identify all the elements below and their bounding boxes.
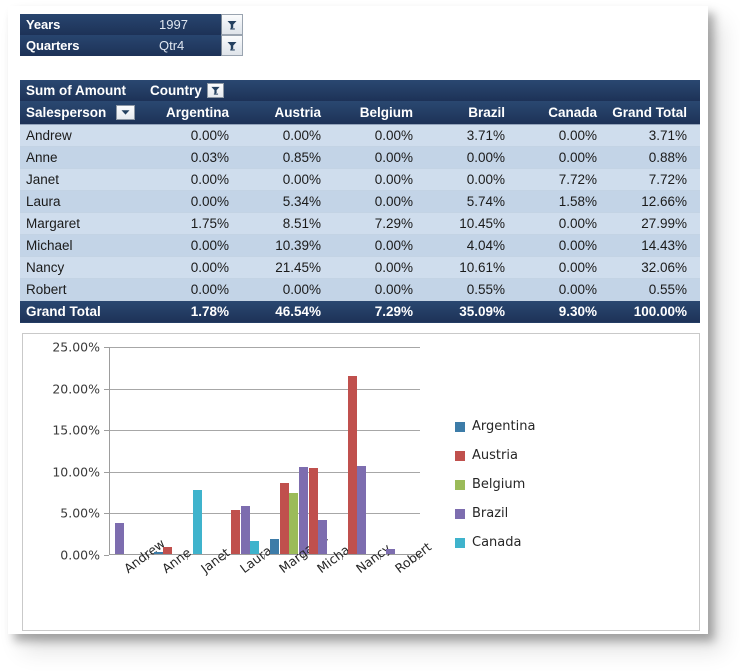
chart-panel[interactable]: 0.00%5.00%10.00%15.00%20.00%25.00%Andrew… (22, 333, 700, 631)
y-axis-tick (104, 472, 109, 473)
legend-label: Canada (472, 535, 521, 550)
chart-plot-area: 0.00%5.00%10.00%15.00%20.00%25.00%Andrew… (109, 347, 419, 555)
table-cell: 0.00% (334, 168, 426, 190)
table-cell: 0.00% (334, 124, 426, 146)
pivot-table: Sum of AmountCountrySalespersonArgentina… (20, 80, 700, 323)
row-label: Margaret (20, 212, 150, 234)
legend-item[interactable]: Austria (455, 441, 575, 470)
page-field-label: Years (20, 14, 157, 35)
table-cell: 3.71% (610, 124, 700, 146)
column-header-belgium[interactable]: Belgium (334, 101, 426, 124)
table-cell: 3.71% (426, 124, 518, 146)
bar-margaret-argentina[interactable] (270, 539, 279, 554)
bar-robert-brazil[interactable] (386, 549, 395, 554)
legend-label: Austria (472, 448, 518, 463)
gridline (110, 513, 420, 514)
table-row: Janet0.00%0.00%0.00%0.00%7.72%7.72% (20, 168, 700, 190)
y-axis-tick-label: 20.00% (52, 381, 100, 396)
page-field-row: Years1997 (20, 14, 245, 35)
grand-total-cell: 7.29% (334, 300, 426, 323)
table-cell: 4.04% (426, 234, 518, 256)
table-cell: 32.06% (610, 256, 700, 278)
pivot-header-row-top: Sum of AmountCountry (20, 80, 700, 101)
column-field-label: Country (150, 83, 202, 98)
page-field-value: Qtr4 (157, 35, 221, 56)
bar-margaret-belgium[interactable] (289, 493, 298, 554)
table-cell: 0.00% (334, 146, 426, 168)
y-axis-tick (104, 555, 109, 556)
y-axis-tick (104, 347, 109, 348)
legend-swatch-canada (455, 538, 465, 548)
row-label: Nancy (20, 256, 150, 278)
table-cell: 0.00% (518, 278, 610, 300)
grand-total-cell: 9.30% (518, 300, 610, 323)
table-cell: 5.34% (242, 190, 334, 212)
pivot-report-screenshot: Years1997QuartersQtr4 Sum of AmountCount… (0, 0, 740, 671)
table-cell: 5.74% (426, 190, 518, 212)
y-axis-tick-label: 0.00% (60, 548, 100, 563)
page-field-row: QuartersQtr4 (20, 35, 245, 56)
chevron-down-icon[interactable] (116, 105, 135, 120)
table-cell: 0.55% (610, 278, 700, 300)
row-label: Michael (20, 234, 150, 256)
table-cell: 0.00% (518, 124, 610, 146)
row-field-header: Salesperson (20, 101, 150, 124)
row-label: Andrew (20, 124, 150, 146)
y-axis-line (109, 347, 110, 555)
table-cell: 1.58% (518, 190, 610, 212)
legend-swatch-austria (455, 451, 465, 461)
legend-swatch-brazil (455, 509, 465, 519)
table-cell: 0.00% (150, 278, 242, 300)
grand-total-label: Grand Total (20, 300, 150, 323)
table-cell: 0.00% (426, 168, 518, 190)
value-field-label: Sum of Amount (20, 80, 150, 101)
legend-item[interactable]: Argentina (455, 412, 575, 441)
y-axis-tick-label: 5.00% (60, 506, 100, 521)
bar-nancy-brazil[interactable] (357, 466, 366, 554)
table-cell: 10.39% (242, 234, 334, 256)
table-cell: 0.00% (334, 256, 426, 278)
gridline (110, 347, 420, 348)
table-row: Andrew0.00%0.00%0.00%3.71%0.00%3.71% (20, 124, 700, 146)
table-cell: 1.75% (150, 212, 242, 234)
legend-label: Argentina (472, 419, 535, 434)
column-header-argentina[interactable]: Argentina (150, 101, 242, 124)
table-cell: 0.00% (242, 168, 334, 190)
table-cell: 0.00% (150, 190, 242, 212)
row-label: Anne (20, 146, 150, 168)
worksheet-surface: Years1997QuartersQtr4 Sum of AmountCount… (8, 6, 708, 634)
y-axis-tick-label: 15.00% (52, 423, 100, 438)
legend-item[interactable]: Brazil (455, 499, 575, 528)
y-axis-tick (104, 389, 109, 390)
legend-item[interactable]: Belgium (455, 470, 575, 499)
column-header-canada[interactable]: Canada (518, 101, 610, 124)
table-cell: 27.99% (610, 212, 700, 234)
row-field-label: Salesperson (20, 105, 106, 120)
column-header-grand-total[interactable]: Grand Total (610, 101, 700, 124)
y-axis-tick-label: 25.00% (52, 340, 100, 355)
table-cell: 0.00% (150, 256, 242, 278)
table-cell: 0.00% (518, 146, 610, 168)
table-cell: 0.00% (518, 212, 610, 234)
pivot-header-row-columns: SalespersonArgentinaAustriaBelgiumBrazil… (20, 101, 700, 124)
row-label: Laura (20, 190, 150, 212)
bar-anne-argentina[interactable] (154, 552, 163, 554)
y-axis-tick (104, 430, 109, 431)
table-cell: 0.55% (426, 278, 518, 300)
filter-funnel-icon[interactable] (221, 14, 243, 35)
bar-michael-brazil[interactable] (318, 520, 327, 554)
table-row: Robert0.00%0.00%0.00%0.55%0.00%0.55% (20, 278, 700, 300)
x-axis-category-label: Andrew (121, 536, 168, 576)
row-label: Janet (20, 168, 150, 190)
y-axis-tick (104, 513, 109, 514)
table-cell: 0.00% (518, 256, 610, 278)
grand-total-cell: 35.09% (426, 300, 518, 323)
gridline (110, 389, 420, 390)
table-cell: 10.45% (426, 212, 518, 234)
table-cell: 0.00% (242, 124, 334, 146)
table-cell: 0.00% (518, 234, 610, 256)
grand-total-cell: 1.78% (150, 300, 242, 323)
gridline (110, 430, 420, 431)
filter-funnel-icon[interactable] (207, 83, 224, 98)
legend-item[interactable]: Canada (455, 528, 575, 557)
bar-laura-brazil[interactable] (241, 506, 250, 554)
table-row: Nancy0.00%21.45%0.00%10.61%0.00%32.06% (20, 256, 700, 278)
legend-swatch-argentina (455, 422, 465, 432)
table-cell: 7.72% (610, 168, 700, 190)
table-cell: 0.00% (242, 278, 334, 300)
table-row: Michael0.00%10.39%0.00%4.04%0.00%14.43% (20, 234, 700, 256)
table-cell: 10.61% (426, 256, 518, 278)
table-row: Anne0.03%0.85%0.00%0.00%0.00%0.88% (20, 146, 700, 168)
table-cell: 0.00% (150, 168, 242, 190)
page-field-area: Years1997QuartersQtr4 (20, 14, 245, 56)
table-cell: 0.88% (610, 146, 700, 168)
table-cell: 7.29% (334, 212, 426, 234)
table-cell: 0.03% (150, 146, 242, 168)
page-field-label: Quarters (20, 35, 157, 56)
x-axis-category-label: Robert (392, 539, 434, 576)
y-axis-tick-label: 10.00% (52, 464, 100, 479)
row-label: Robert (20, 278, 150, 300)
table-cell: 7.72% (518, 168, 610, 190)
table-cell: 0.00% (334, 190, 426, 212)
table-cell: 0.00% (334, 278, 426, 300)
table-cell: 0.00% (150, 124, 242, 146)
bar-margaret-austria[interactable] (280, 483, 289, 554)
gridline (110, 472, 420, 473)
bar-nancy-austria[interactable] (348, 376, 357, 554)
grand-total-cell: 46.54% (242, 300, 334, 323)
table-cell: 0.00% (334, 234, 426, 256)
page-field-value: 1997 (157, 14, 221, 35)
chart-legend: ArgentinaAustriaBelgiumBrazilCanada (455, 412, 575, 557)
table-row: Laura0.00%5.34%0.00%5.74%1.58%12.66% (20, 190, 700, 212)
legend-label: Belgium (472, 477, 525, 492)
bar-anne-austria[interactable] (163, 547, 172, 554)
table-cell: 14.43% (610, 234, 700, 256)
table-cell: 21.45% (242, 256, 334, 278)
table-cell: 0.85% (242, 146, 334, 168)
table-cell: 12.66% (610, 190, 700, 212)
column-field-header: Country (150, 80, 700, 101)
legend-label: Brazil (472, 506, 508, 521)
x-axis-category-label: Janet (198, 545, 232, 576)
grand-total-cell: 100.00% (610, 300, 700, 323)
table-cell: 0.00% (426, 146, 518, 168)
bar-laura-austria[interactable] (231, 510, 240, 554)
table-cell: 8.51% (242, 212, 334, 234)
bar-janet-canada[interactable] (193, 490, 202, 554)
bar-andrew-brazil[interactable] (115, 523, 124, 554)
bar-michael-austria[interactable] (309, 468, 318, 554)
grand-total-row: Grand Total1.78%46.54%7.29%35.09%9.30%10… (20, 300, 700, 323)
filter-funnel-icon[interactable] (221, 35, 243, 56)
table-row: Margaret1.75%8.51%7.29%10.45%0.00%27.99% (20, 212, 700, 234)
column-header-austria[interactable]: Austria (242, 101, 334, 124)
legend-swatch-belgium (455, 480, 465, 490)
column-header-brazil[interactable]: Brazil (426, 101, 518, 124)
table-cell: 0.00% (150, 234, 242, 256)
